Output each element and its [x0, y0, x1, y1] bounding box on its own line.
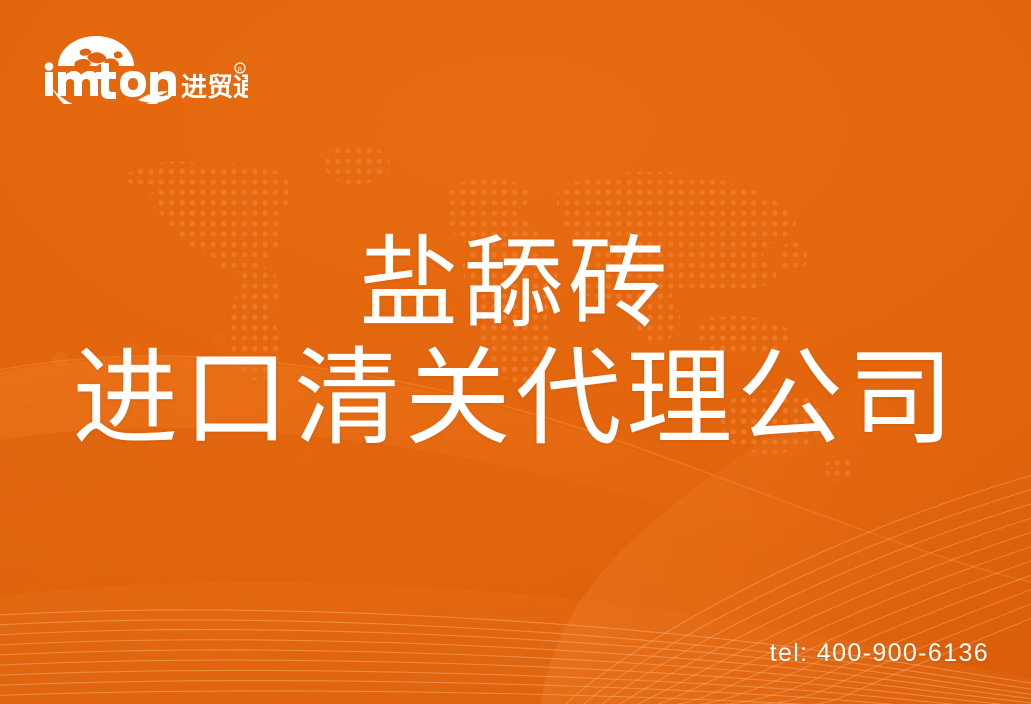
headline-line-1: 盐舔砖: [0, 228, 1031, 340]
headline-line-2: 进口清关代理公司: [0, 340, 1031, 458]
trademark-icon: R: [235, 63, 245, 74]
logo-wordmark-chinese: 进贸通: [181, 73, 248, 103]
promo-banner: 进贸通 R 盐舔砖 进口清关代理公司 tel: 400-900-6136: [0, 0, 1031, 704]
brand-logo[interactable]: 进贸通 R: [38, 26, 248, 104]
telephone-text[interactable]: tel: 400-900-6136: [770, 639, 989, 668]
svg-text:进贸通: 进贸通: [181, 73, 248, 103]
headline-block: 盐舔砖 进口清关代理公司: [0, 228, 1031, 458]
svg-text:R: R: [238, 66, 243, 74]
globe-dome-icon: [58, 36, 134, 71]
